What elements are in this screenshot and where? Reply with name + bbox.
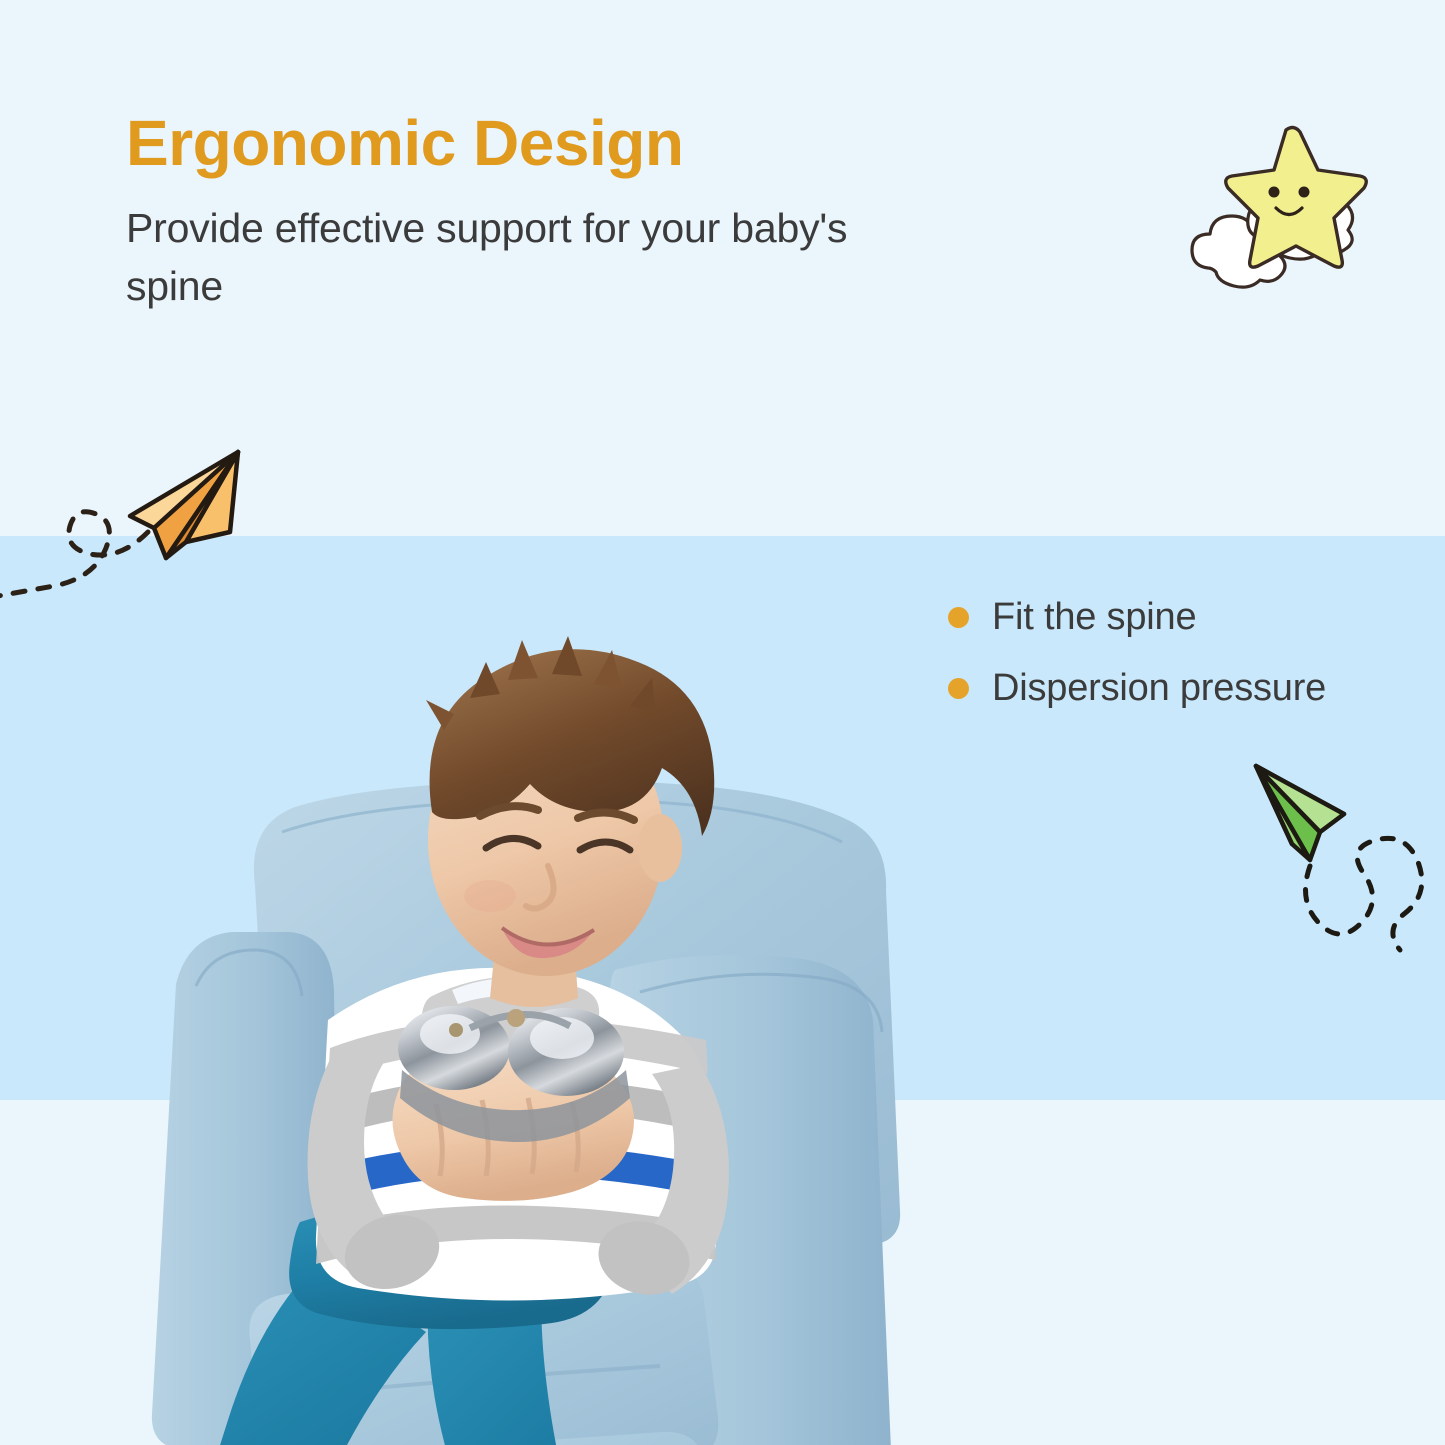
paper-plane-orange-icon bbox=[0, 424, 280, 644]
star-eye-right bbox=[1299, 187, 1310, 198]
paper-plane-green-icon bbox=[1248, 748, 1445, 998]
bullet-dot-icon bbox=[948, 607, 969, 628]
page-title: Ergonomic Design bbox=[126, 110, 906, 177]
list-item: Dispersion pressure bbox=[948, 667, 1418, 710]
feature-label: Dispersion pressure bbox=[992, 667, 1326, 710]
promo-banner: Ergonomic Design Provide effective suppo… bbox=[0, 0, 1445, 1445]
page-subtitle: Provide effective support for your baby'… bbox=[126, 199, 906, 315]
star-cloud-doodle-icon bbox=[1168, 108, 1378, 308]
feature-label: Fit the spine bbox=[992, 596, 1196, 639]
list-item: Fit the spine bbox=[948, 596, 1418, 639]
feature-list: Fit the spine Dispersion pressure bbox=[948, 596, 1418, 738]
bullet-dot-icon bbox=[948, 678, 969, 699]
star-eye-left bbox=[1269, 187, 1280, 198]
heading-block: Ergonomic Design Provide effective suppo… bbox=[126, 110, 906, 316]
